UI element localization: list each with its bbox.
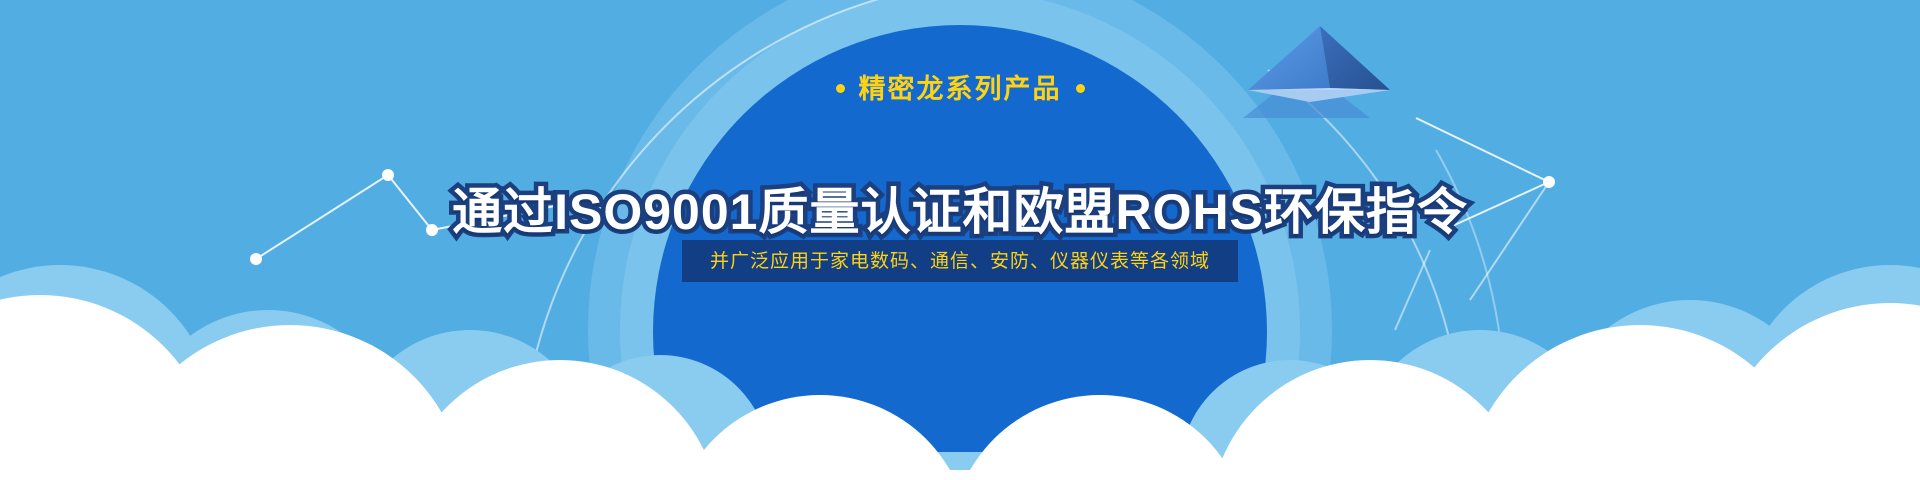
banner-subtitle-bar: 并广泛应用于家电数码、通信、安防、仪器仪表等各领域 [682, 240, 1238, 282]
eyebrow-dot-left [836, 84, 845, 93]
eyebrow-dot-right [1076, 84, 1085, 93]
banner-headline-wrap: 通过ISO9001质量认证和欧盟ROHS环保指令 [0, 142, 1920, 214]
cloud-base-fill [0, 470, 1920, 480]
banner-subtitle-text: 并广泛应用于家电数码、通信、安防、仪器仪表等各领域 [710, 252, 1210, 271]
eyebrow-label: 精密龙系列产品 [859, 74, 1062, 104]
page-title: 通过ISO9001质量认证和欧盟ROHS环保指令 [452, 176, 1468, 248]
product-certification-banner: 精密龙系列产品 通过ISO9001质量认证和欧盟ROHS环保指令 并广泛应用于家… [0, 0, 1920, 480]
constellation-dot [426, 224, 438, 236]
banner-eyebrow: 精密龙系列产品 [0, 76, 1920, 103]
constellation-dot [250, 253, 262, 265]
